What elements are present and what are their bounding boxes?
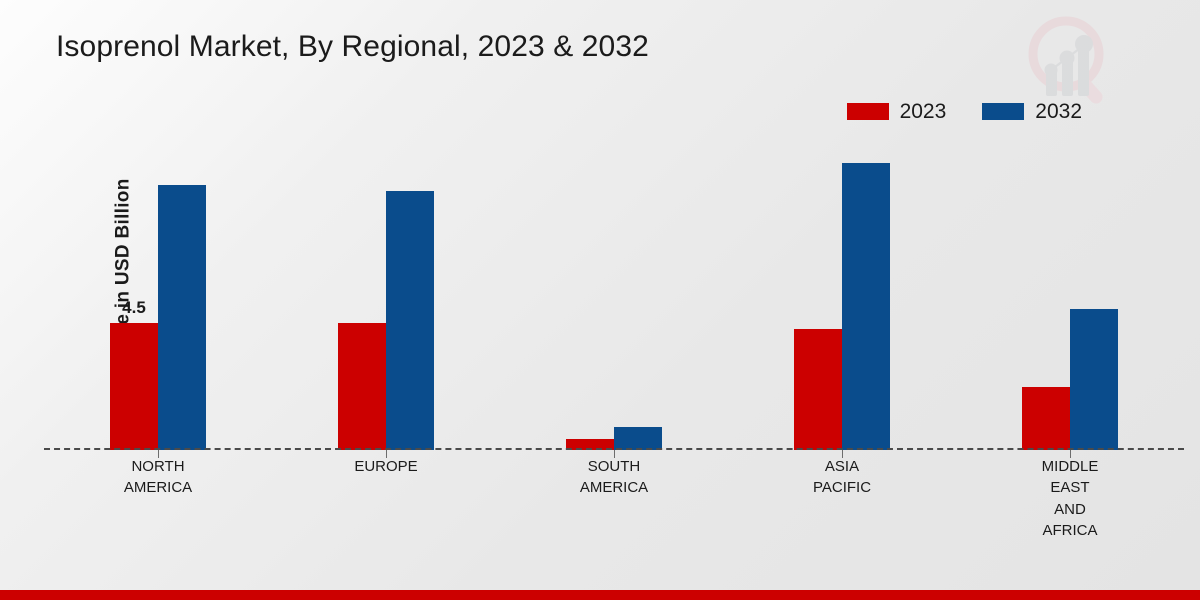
bar-2023-europe[interactable] bbox=[338, 323, 386, 450]
x-axis-label-middle-east-and-africa: MIDDLE EAST AND AFRICA bbox=[1042, 456, 1099, 541]
bars-layer: 4.5 bbox=[44, 140, 1184, 450]
bar-group bbox=[728, 140, 956, 450]
x-axis-label-south-america: SOUTH AMERICA bbox=[580, 456, 648, 499]
bar-2032-south-america[interactable] bbox=[614, 427, 662, 450]
x-axis-label-europe: EUROPE bbox=[354, 456, 417, 477]
x-axis-category-labels: NORTH AMERICAEUROPESOUTH AMERICAASIA PAC… bbox=[44, 456, 1184, 566]
x-axis-label-asia-pacific: ASIA PACIFIC bbox=[813, 456, 871, 499]
legend-swatch-2023-icon bbox=[847, 103, 889, 120]
legend-item-2032[interactable]: 2032 bbox=[982, 101, 1082, 122]
chart-legend: 2023 2032 bbox=[847, 101, 1082, 122]
bar-value-label: 4.5 bbox=[122, 298, 146, 318]
legend-item-2023[interactable]: 2023 bbox=[847, 101, 947, 122]
bar-2032-asia-pacific[interactable] bbox=[842, 163, 890, 450]
footer-accent-strip bbox=[0, 590, 1200, 600]
bar-2023-middle-east-and-africa[interactable] bbox=[1022, 387, 1070, 450]
bar-group bbox=[272, 140, 500, 450]
bar-group bbox=[500, 140, 728, 450]
x-axis-label-north-america: NORTH AMERICA bbox=[124, 456, 192, 499]
bar-2032-middle-east-and-africa[interactable] bbox=[1070, 309, 1118, 450]
bar-group bbox=[956, 140, 1184, 450]
legend-label-2032: 2032 bbox=[1035, 101, 1082, 122]
bar-2032-north-america[interactable] bbox=[158, 185, 206, 450]
axis-baseline bbox=[44, 448, 1184, 450]
bar-2023-asia-pacific[interactable] bbox=[794, 329, 842, 450]
legend-label-2023: 2023 bbox=[900, 101, 947, 122]
chart-container: Isoprenol Market, By Regional, 2023 & 20… bbox=[0, 0, 1200, 600]
bar-2032-europe[interactable] bbox=[386, 191, 434, 450]
legend-swatch-2032-icon bbox=[982, 103, 1024, 120]
chart-title: Isoprenol Market, By Regional, 2023 & 20… bbox=[56, 30, 649, 64]
bar-2023-north-america[interactable]: 4.5 bbox=[110, 323, 158, 450]
bar-group: 4.5 bbox=[44, 140, 272, 450]
magnifier-bar-chart-logo-watermark-icon bbox=[1018, 8, 1122, 112]
plot-area: 4.5 bbox=[44, 140, 1184, 450]
